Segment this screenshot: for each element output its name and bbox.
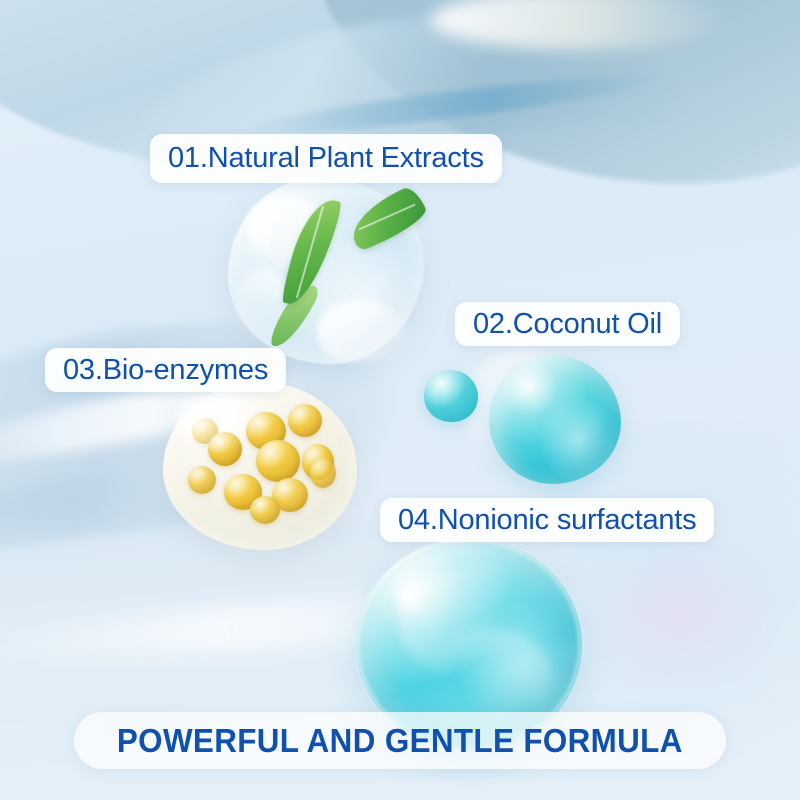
coconut-oil-sphere-icon <box>489 356 621 484</box>
enzyme-bead <box>246 412 286 450</box>
ingredient-label-02-text: 02.Coconut Oil <box>473 310 662 339</box>
fabric-glow-right <box>550 430 800 760</box>
bio-enzyme-capsule-icon <box>163 382 357 550</box>
crystal-capsule-icon <box>228 178 424 364</box>
iridescent-sheen <box>580 540 780 690</box>
leaf-vein <box>358 203 415 230</box>
enzyme-bead <box>192 418 218 444</box>
sphere-swirl-highlight <box>432 628 552 724</box>
tea-leaf-icon <box>267 279 322 354</box>
sphere-swirl-highlight <box>398 566 548 676</box>
enzyme-bead <box>208 432 242 466</box>
ingredient-label-03-text: 03.Bio-enzymes <box>63 356 268 385</box>
enzyme-bead <box>250 496 280 524</box>
enzyme-bead <box>272 478 308 512</box>
enzyme-bead <box>302 444 334 480</box>
headline-text: POWERFUL AND GENTLE FORMULA <box>117 722 683 760</box>
white-petal-icon <box>265 198 305 268</box>
ingredient-label-02: 02.Coconut Oil <box>455 302 680 346</box>
ingredient-label-04-text: 04.Nonionic surfactants <box>398 506 696 535</box>
tea-leaf-icon <box>279 193 343 310</box>
ingredient-label-03: 03.Bio-enzymes <box>45 348 286 392</box>
capsule-sheen <box>176 390 258 448</box>
enzyme-bead <box>288 404 322 437</box>
crystal-facet-highlight <box>236 268 290 340</box>
fabric-highlight-top <box>430 0 730 50</box>
crystal-facet-highlight <box>246 196 320 258</box>
coconut-oil-droplet-icon <box>424 370 478 422</box>
fabric-fold-mid-lower <box>0 433 360 546</box>
fabric-fold-bottom <box>0 576 641 675</box>
ingredient-label-01-text: 01.Natural Plant Extracts <box>168 144 484 173</box>
sphere-specular-glint <box>390 576 426 618</box>
ingredient-label-04: 04.Nonionic surfactants <box>380 498 714 542</box>
headline-banner: POWERFUL AND GENTLE FORMULA <box>74 712 726 769</box>
enzyme-bead <box>256 440 300 482</box>
ingredient-label-01: 01.Natural Plant Extracts <box>150 134 502 183</box>
tea-leaf-icon <box>343 184 431 252</box>
fabric-drape-mid-left <box>0 286 404 583</box>
enzyme-bead <box>224 474 262 510</box>
crystal-facet-highlight <box>318 300 406 362</box>
fabric-edge-top <box>240 67 660 144</box>
ingredient-poster: 01.Natural Plant Extracts 02.Coconut Oil… <box>0 0 800 800</box>
enzyme-bead <box>188 466 216 494</box>
gel-veil <box>460 348 590 468</box>
leaf-vein <box>296 206 324 299</box>
enzyme-bead <box>310 458 336 488</box>
